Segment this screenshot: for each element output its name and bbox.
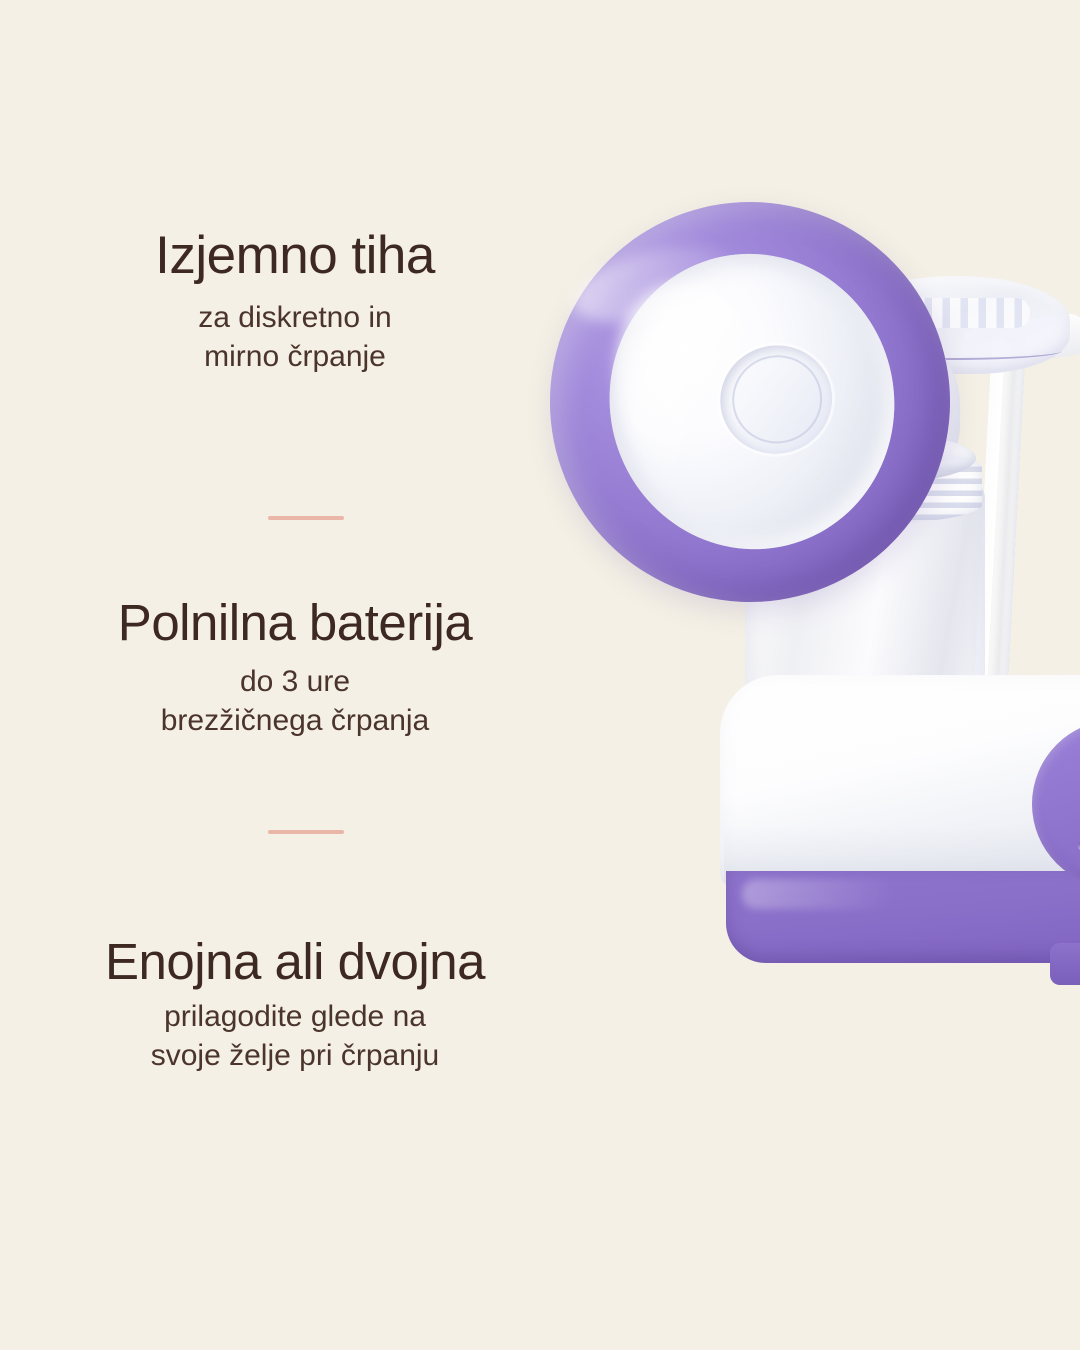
base-top-shell [720,675,1080,890]
feature-subtitle: do 3 ure brezžičnega črpanja [0,662,590,740]
feature-subtitle: prilagodite glede na svoje želje pri črp… [0,997,590,1075]
feature-title: Enojna ali dvojna [0,935,590,989]
feature-title: Polnilna baterija [0,596,590,650]
feature-title: Izjemno tiha [0,228,590,284]
base-foot [1050,943,1080,985]
feature-block-quiet: Izjemno tiha za diskretno in mirno črpan… [0,228,590,376]
feature-list: Izjemno tiha za diskretno in mirno črpan… [0,0,590,1350]
product-image-breast-pump: Lansi [530,180,1080,1160]
section-divider [268,516,344,520]
pump-motor-base: Lansi [720,675,1080,1005]
feature-block-single-double: Enojna ali dvojna prilagodite glede na s… [0,935,590,1075]
base-purple-band [726,871,1080,963]
feature-block-battery: Polnilna baterija do 3 ure brezžičnega č… [0,596,590,740]
feature-subtitle: za diskretno in mirno črpanje [0,298,590,376]
section-divider [268,830,344,834]
feature-card: Izjemno tiha za diskretno in mirno črpan… [0,0,1080,1350]
